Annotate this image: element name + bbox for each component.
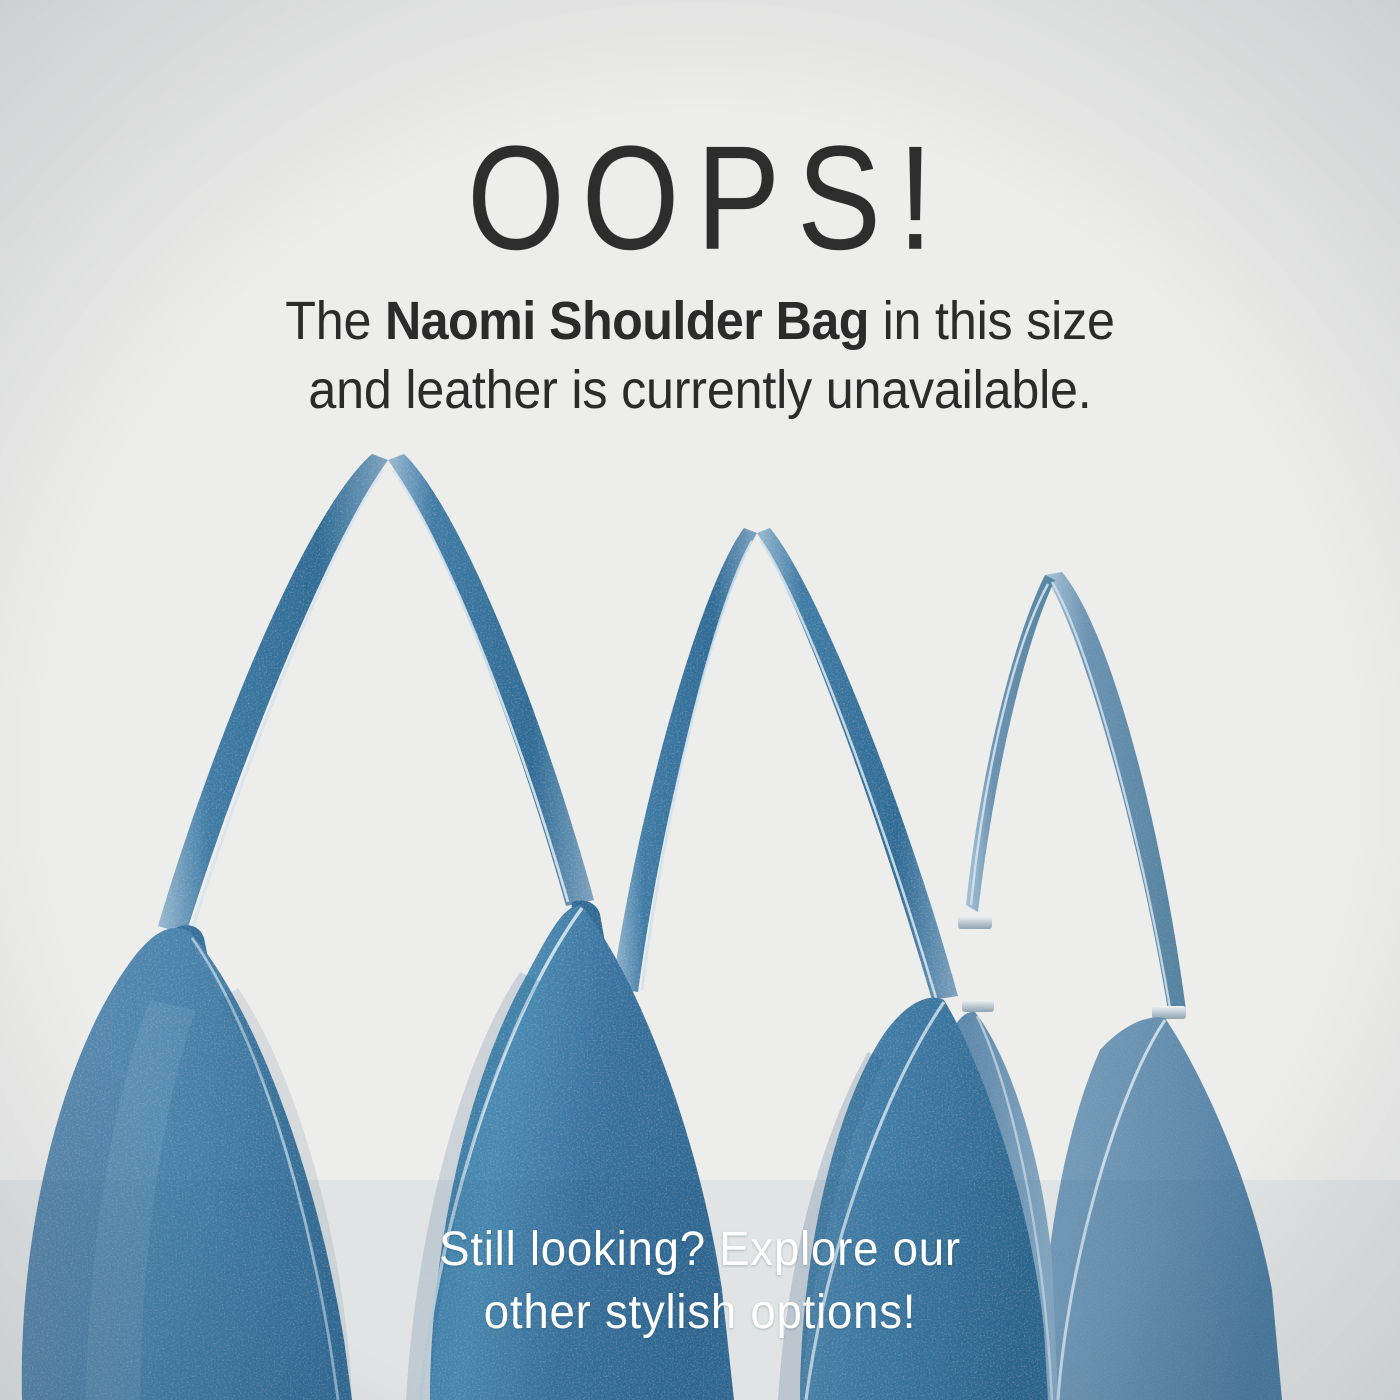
promo-card: OOPS! The Naomi Shoulder Bag in this siz… <box>0 0 1400 1400</box>
product-photo <box>0 0 1400 1400</box>
